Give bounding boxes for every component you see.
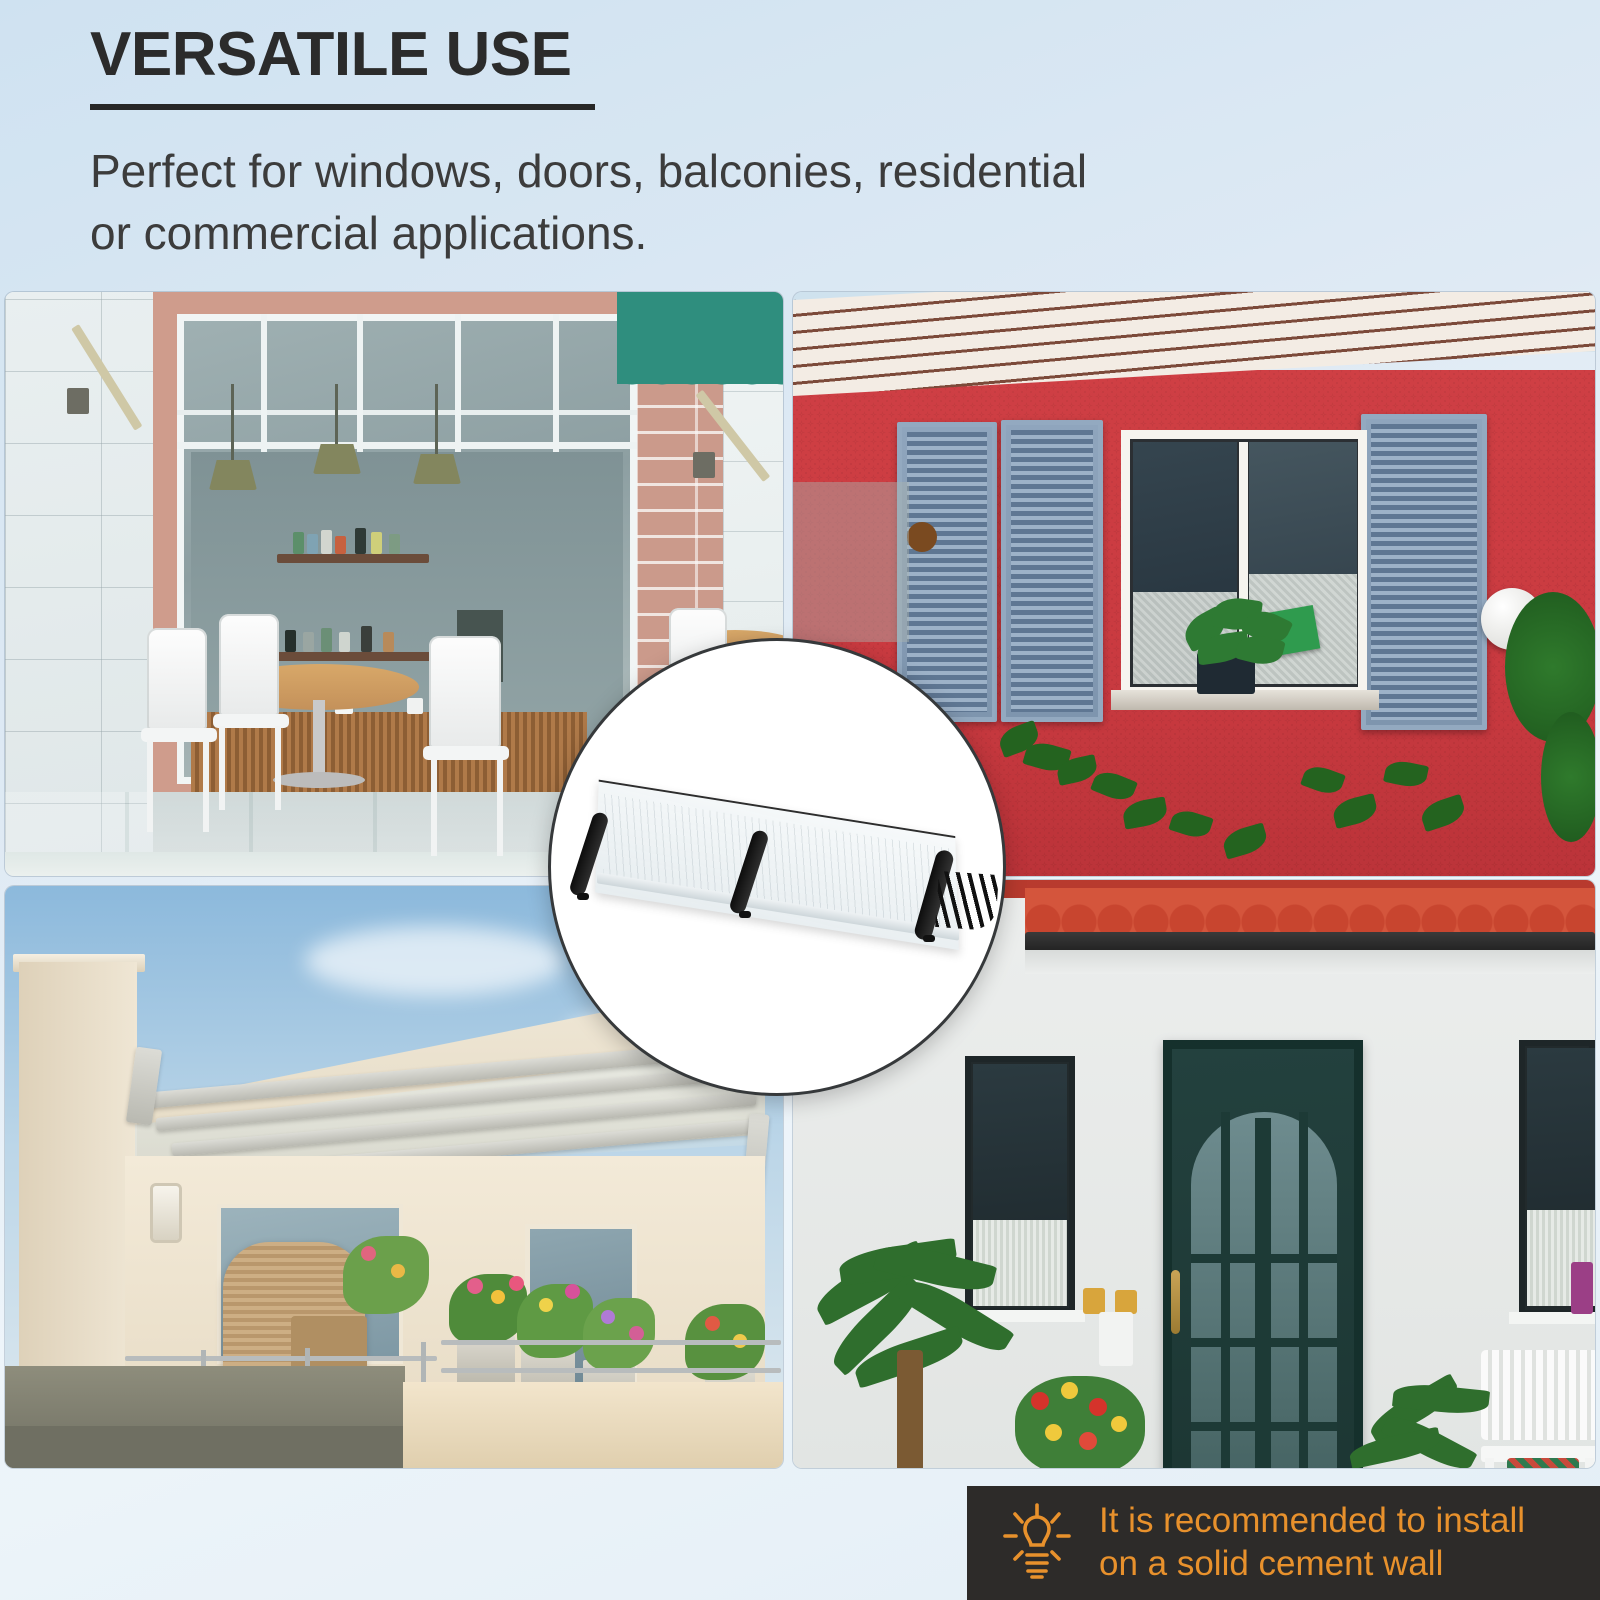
title-underline (90, 104, 595, 110)
installation-tip-banner: It is recommended to install on a solid … (967, 1486, 1600, 1600)
header: VERSATILE USE Perfect for windows, doors… (0, 0, 1600, 292)
door-handle (1171, 1270, 1180, 1334)
tip-text: It is recommended to install on a solid … (1099, 1500, 1525, 1585)
door-canopy-product (563, 789, 993, 949)
product-feature-page: VERSATILE USE Perfect for windows, doors… (0, 0, 1600, 1600)
tip-line-1: It is recommended to install (1099, 1500, 1525, 1543)
page-title: VERSATILE USE (90, 24, 572, 86)
page-subtitle: Perfect for windows, doors, balconies, r… (90, 140, 1390, 264)
product-highlight-circle (548, 638, 1006, 1096)
garden-bench (1481, 1350, 1595, 1468)
lightbulb-icon (1001, 1503, 1073, 1583)
tip-line-2: on a solid cement wall (1099, 1543, 1525, 1586)
subtitle-line-2: or commercial applications. (90, 202, 1390, 264)
subtitle-line-1: Perfect for windows, doors, balconies, r… (90, 140, 1390, 202)
canopy-rib-fan (935, 871, 999, 931)
